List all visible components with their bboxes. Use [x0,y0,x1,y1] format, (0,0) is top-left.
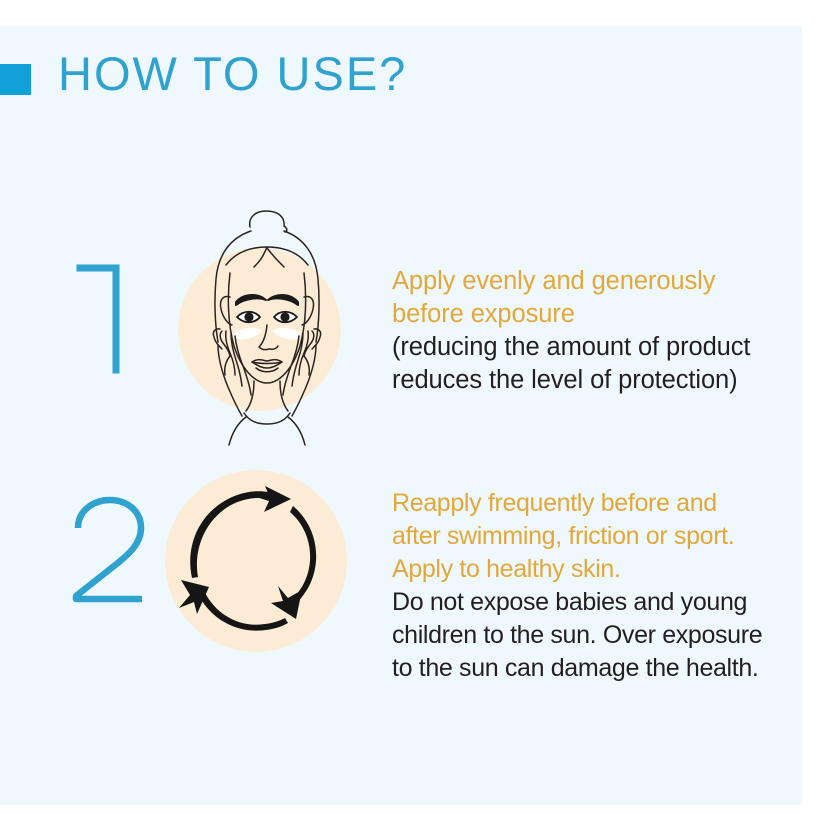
step-2-line-1: Reapply frequently before and [392,487,752,520]
title-marker-square [0,64,31,95]
numeral-two-glyph [66,495,166,615]
step-2-line-2: after swimming, friction or sport. [392,520,752,553]
step-2-line-4: Do not expose babies and young [392,586,752,619]
step-2: Reapply frequently before and after swim… [0,465,802,680]
step-2-line-6: to the sun can damage the health. [392,652,752,685]
step-1-line-4: reduces the level of protection) [392,364,752,397]
step-1-illustration-disc [178,248,341,411]
circular-refresh-arrows-icon [165,470,347,652]
step-2-line-5: children to the sun. Over exposure [392,619,752,652]
how-to-use-infographic: HOW TO USE? Apply evenly and generously … [0,0,840,840]
step-2-illustration-disc [165,470,347,652]
step-1-text: Apply evenly and generously before expos… [392,265,752,397]
step-1-line-1: Apply evenly and generously [392,265,752,298]
step-1-line-2: before exposure [392,298,752,331]
step-1-line-3: (reducing the amount of product [392,331,752,364]
step-2-text: Reapply frequently before and after swim… [392,487,752,685]
step-number-2 [66,495,166,615]
page-title: HOW TO USE? [58,50,407,97]
step-number-1 [70,252,160,372]
numeral-one-glyph [70,252,160,372]
step-1: Apply evenly and generously before expos… [0,240,802,440]
step-2-line-3: Apply to healthy skin. [392,553,752,586]
